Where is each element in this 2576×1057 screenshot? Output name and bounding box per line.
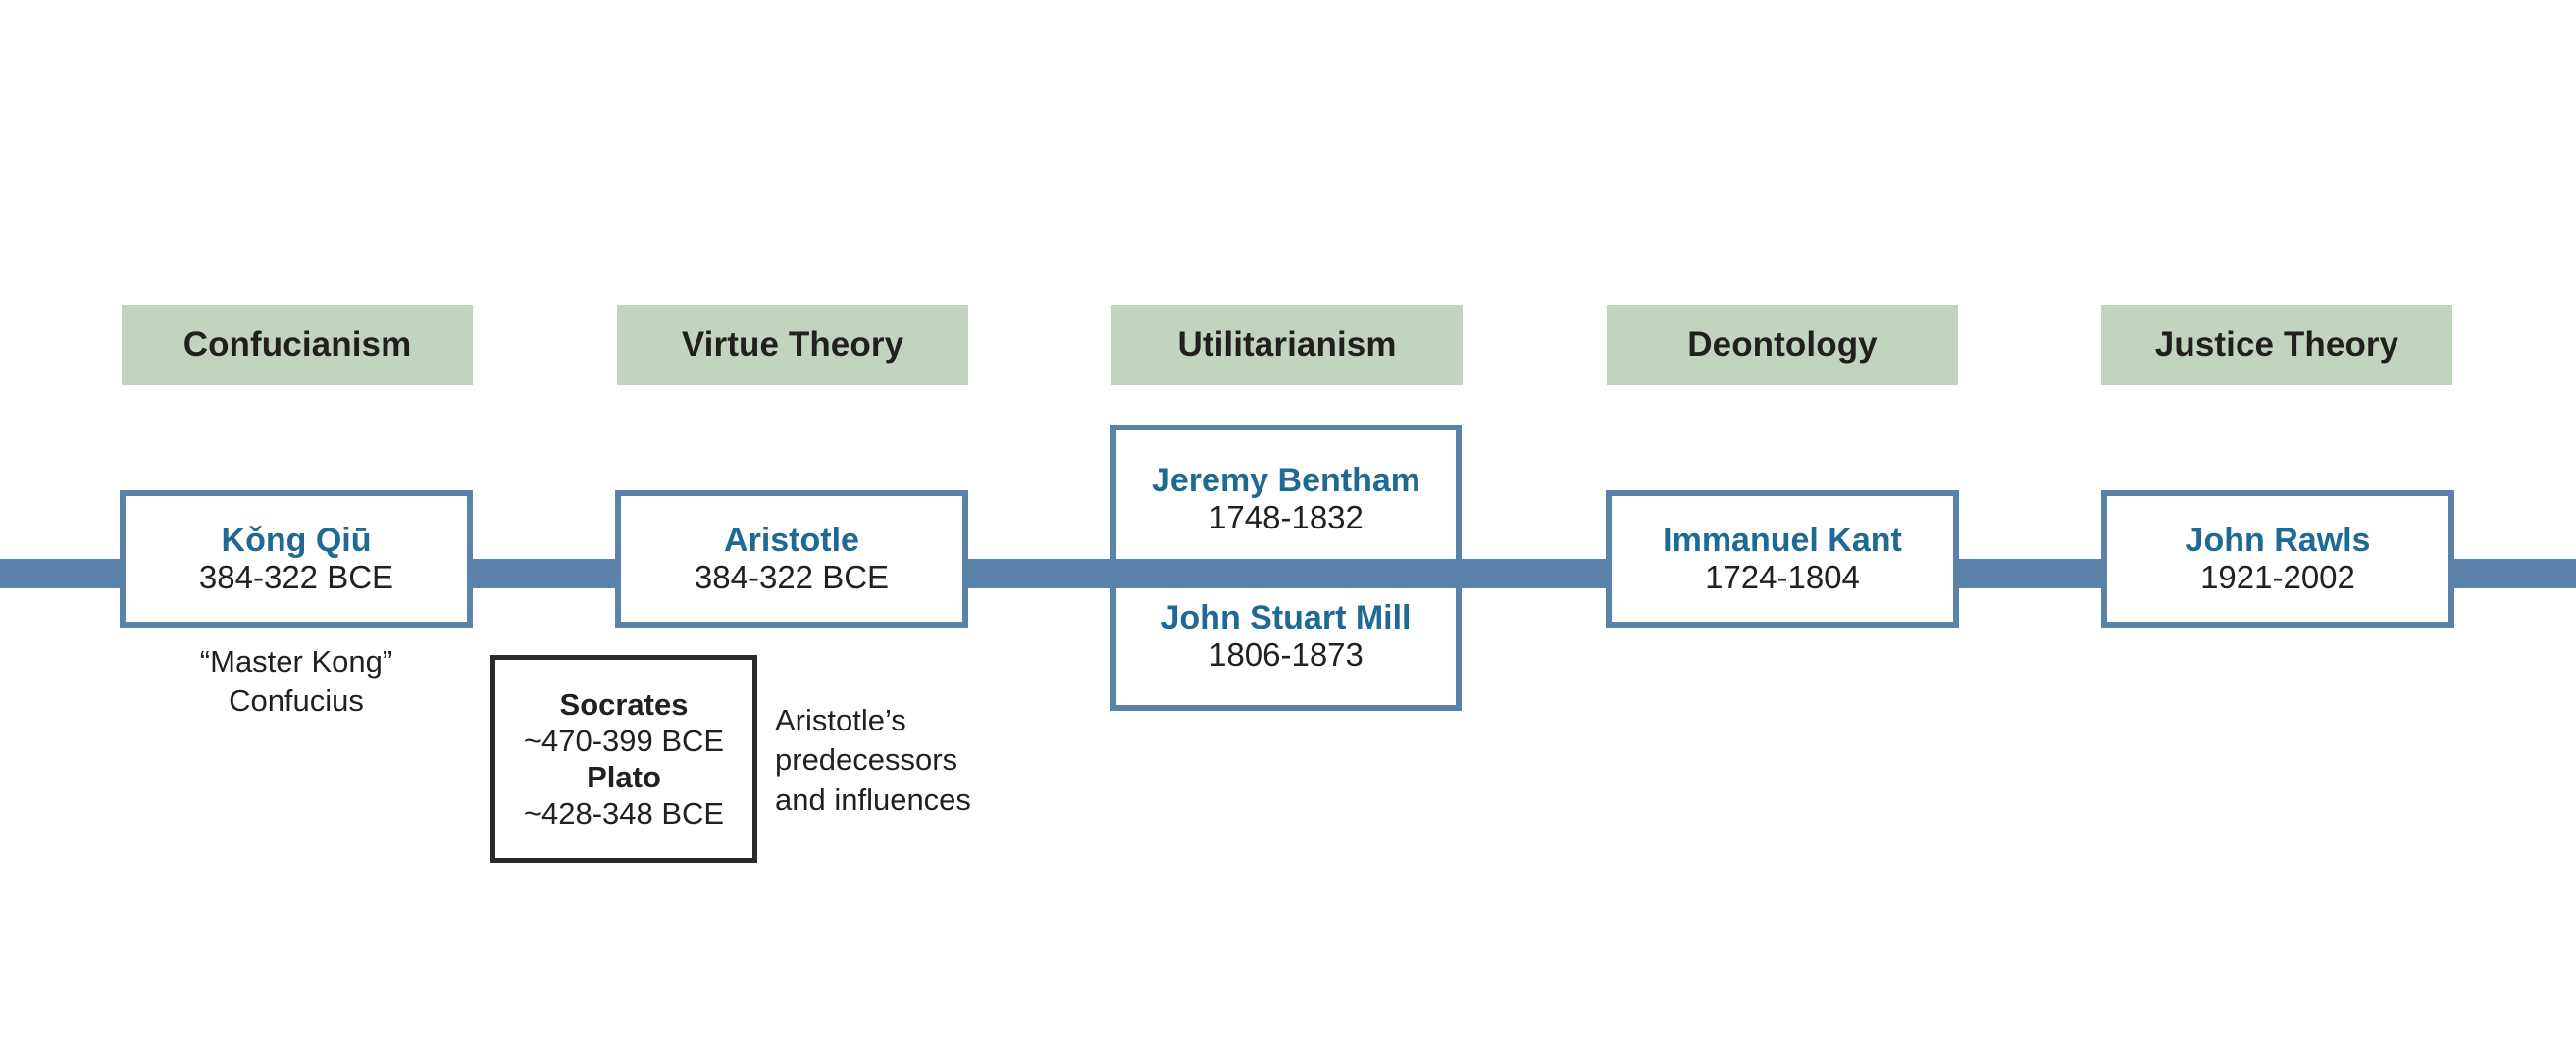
philosopher-dates: 384-322 BCE bbox=[695, 560, 889, 596]
era-header-deontology: Deontology bbox=[1607, 305, 1958, 385]
era-header-utilitarianism: Utilitarianism bbox=[1111, 305, 1463, 385]
caption-confucius: “Master Kong” Confucius bbox=[120, 642, 473, 720]
predecessor-note: Aristotle’s predecessors and influences bbox=[775, 701, 1069, 820]
era-header-confucianism: Confucianism bbox=[122, 305, 473, 385]
philosopher-name: Kǒng Qiū bbox=[222, 522, 372, 559]
philosopher-dates: 1921-2002 bbox=[2200, 560, 2355, 596]
philosopher-name: Aristotle bbox=[724, 522, 859, 559]
predecessor-dates: ~428-348 BCE bbox=[524, 795, 724, 831]
timeline-spine-divider bbox=[1110, 559, 1462, 588]
philosopher-dates: 1724-1804 bbox=[1705, 560, 1860, 596]
era-header-justice-theory: Justice Theory bbox=[2101, 305, 2452, 385]
philosopher-entry-bentham: Jeremy Bentham 1748-1832 bbox=[1116, 430, 1456, 568]
era-header-label: Confucianism bbox=[183, 326, 412, 365]
timeline-diagram: Confucianism Virtue Theory Utilitarianis… bbox=[0, 0, 2576, 1057]
era-header-label: Virtue Theory bbox=[682, 326, 903, 365]
philosopher-box-john-rawls: John Rawls 1921-2002 bbox=[2101, 490, 2454, 628]
era-header-label: Deontology bbox=[1687, 326, 1877, 365]
philosopher-name: John Rawls bbox=[2186, 522, 2371, 559]
philosopher-name: Immanuel Kant bbox=[1663, 522, 1902, 559]
predecessor-name: Plato bbox=[587, 759, 661, 795]
philosopher-dates: 1748-1832 bbox=[1209, 500, 1364, 536]
predecessor-name: Socrates bbox=[560, 686, 689, 723]
predecessor-box-socrates-plato: Socrates ~470-399 BCE Plato ~428-348 BCE bbox=[490, 655, 757, 863]
philosopher-box-kong-qiu: Kǒng Qiū 384-322 BCE bbox=[120, 490, 473, 628]
philosopher-dates: 384-322 BCE bbox=[199, 560, 393, 596]
era-header-label: Justice Theory bbox=[2155, 326, 2398, 365]
era-header-label: Utilitarianism bbox=[1177, 326, 1396, 365]
philosopher-entry-mill: John Stuart Mill 1806-1873 bbox=[1116, 568, 1456, 705]
predecessor-dates: ~470-399 BCE bbox=[524, 723, 724, 759]
philosopher-name: John Stuart Mill bbox=[1161, 599, 1412, 636]
philosopher-dates: 1806-1873 bbox=[1209, 637, 1364, 674]
philosopher-box-aristotle: Aristotle 384-322 BCE bbox=[615, 490, 968, 628]
philosopher-box-immanuel-kant: Immanuel Kant 1724-1804 bbox=[1606, 490, 1959, 628]
era-header-virtue-theory: Virtue Theory bbox=[617, 305, 968, 385]
philosopher-name: Jeremy Bentham bbox=[1152, 462, 1420, 499]
